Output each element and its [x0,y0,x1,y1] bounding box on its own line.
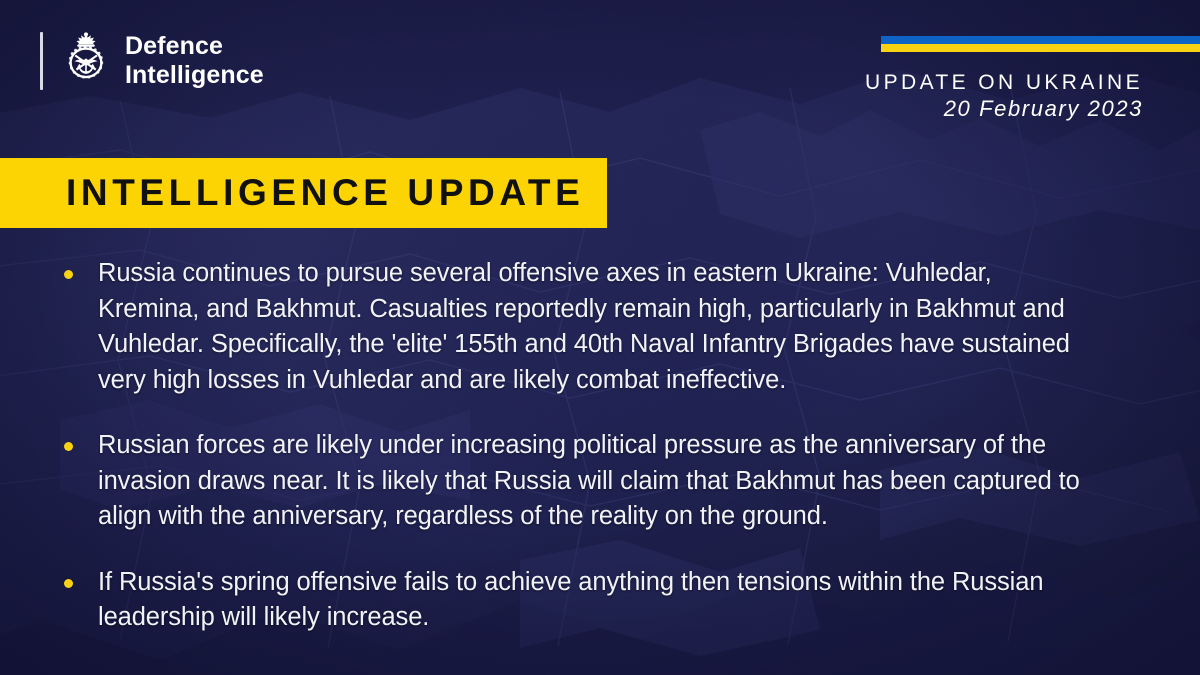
bullet-text: Russia continues to pursue several offen… [98,256,1098,398]
list-item: Russia continues to pursue several offen… [0,256,1200,398]
ukraine-flag-bar [881,36,1200,52]
update-on-ukraine-title: UPDATE ON UKRAINE [865,70,1143,95]
flag-yellow-band [881,44,1200,52]
update-date: 20 February 2023 [865,96,1143,122]
bullet-text: If Russia's spring offensive fails to ac… [98,565,1098,636]
bullet-dot-icon [64,270,73,279]
bullet-list: Russia continues to pursue several offen… [0,256,1200,666]
brand-title-line1: Defence [125,32,264,61]
header-title-block: UPDATE ON UKRAINE 20 February 2023 [865,70,1143,122]
bullet-dot-icon [64,442,73,451]
header: Defence Intelligence UPDATE ON UKRAINE 2… [0,0,1200,150]
flag-blue-band [881,36,1200,44]
list-item: Russian forces are likely under increasi… [0,428,1200,535]
defence-intelligence-crest-icon [59,30,113,92]
bullet-dot-icon [64,579,73,588]
banner-label: INTELLIGENCE UPDATE [66,173,584,213]
brand-lockup: Defence Intelligence [40,30,264,92]
list-item: If Russia's spring offensive fails to ac… [0,565,1200,636]
brand-title: Defence Intelligence [113,32,264,90]
intelligence-update-banner: INTELLIGENCE UPDATE [0,158,607,228]
brand-title-line2: Intelligence [125,61,264,90]
brand-divider [40,32,43,90]
bullet-text: Russian forces are likely under increasi… [98,428,1098,535]
intelligence-update-graphic: Defence Intelligence UPDATE ON UKRAINE 2… [0,0,1200,675]
